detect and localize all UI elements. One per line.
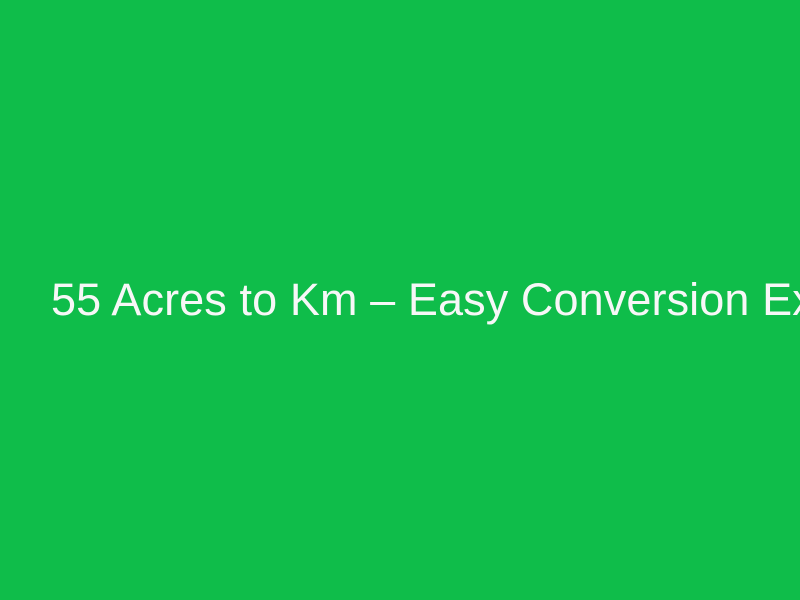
share-card: 55 Acres to Km – Easy Conversion Explain… bbox=[0, 0, 800, 600]
headline-container: 55 Acres to Km – Easy Conversion Explain… bbox=[49, 273, 751, 328]
page-title: 55 Acres to Km – Easy Conversion Explain… bbox=[51, 273, 751, 328]
